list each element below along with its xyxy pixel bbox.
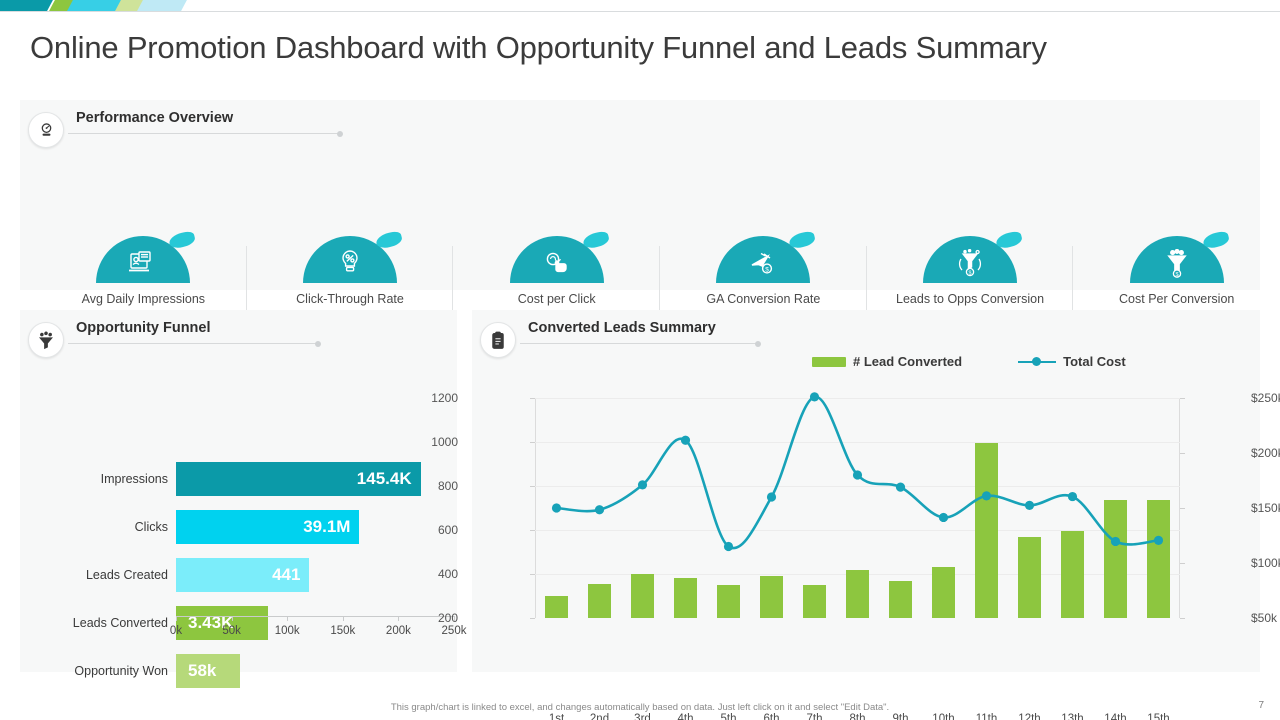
line-marker[interactable] xyxy=(939,513,948,522)
kpi-label: Cost per Click xyxy=(518,292,596,306)
legend-item-lead-converted[interactable]: # Lead Converted xyxy=(812,354,962,369)
x-axis-category-label: 10thJan xyxy=(932,712,954,720)
funnel-value: 145.4K xyxy=(357,469,412,489)
funnel-axis-tick-label: 100k xyxy=(275,625,300,637)
funnel-section-header: Opportunity Funnel xyxy=(28,320,447,360)
left-axis-tick-label: 800 xyxy=(412,479,458,493)
line-marker[interactable] xyxy=(638,480,647,489)
page-number: 7 xyxy=(1258,700,1264,711)
performance-overview-panel: Performance Overview xyxy=(20,100,1260,290)
svg-text:$: $ xyxy=(969,270,972,276)
clipboard-icon xyxy=(480,322,516,358)
line-marker[interactable] xyxy=(982,491,991,500)
chart-legend: # Lead Converted Total Cost xyxy=(812,354,1126,369)
performance-connector-line xyxy=(68,133,340,134)
funnel-axis-tick xyxy=(232,616,233,621)
performance-section-header: Performance Overview xyxy=(28,110,1250,150)
kpi-label: Cost Per Conversion xyxy=(1119,292,1234,306)
funnel-value: 58k xyxy=(188,661,216,681)
funnel-row-opportunity-won[interactable]: Opportunity Won 58k xyxy=(176,654,240,688)
right-axis-tick-label: $200k xyxy=(1251,446,1280,460)
svg-text:$: $ xyxy=(766,266,770,273)
funnel-bar: 145.4K xyxy=(176,462,421,496)
line-marker[interactable] xyxy=(595,505,604,514)
leads-connector-line xyxy=(520,343,758,344)
left-axis-tick-label: 1200 xyxy=(412,391,458,405)
funnel-label: Impressions xyxy=(101,472,168,486)
funnel-label: Opportunity Won xyxy=(74,664,168,678)
right-axis-tick xyxy=(1180,398,1185,399)
funnel-axis-tick xyxy=(343,616,344,621)
right-axis-tick xyxy=(1180,563,1185,564)
left-axis-tick-label: 1000 xyxy=(412,435,458,449)
funnel-connector-dot xyxy=(315,341,321,347)
conversion-arrow-icon: $ xyxy=(716,251,810,279)
line-marker[interactable] xyxy=(1111,537,1120,546)
right-axis-tick-label: $150k xyxy=(1251,501,1280,515)
funnel-axis-tick-label: 150k xyxy=(330,625,355,637)
dome-notch-5 xyxy=(995,230,1024,250)
left-axis-tick-label: 600 xyxy=(412,523,458,537)
top-strip-teal xyxy=(0,0,53,11)
funnel-dots-icon xyxy=(28,322,64,358)
dome-notch-2 xyxy=(375,230,404,250)
x-axis-category-label: 9thJan xyxy=(891,712,910,720)
performance-section-title: Performance Overview xyxy=(76,110,233,126)
funnel-axis-tick-label: 50k xyxy=(222,625,241,637)
funnel-bar: 58k xyxy=(176,654,240,688)
funnel-cycle-icon: $ xyxy=(923,249,1017,279)
right-axis-tick-label: $50k xyxy=(1251,611,1280,625)
line-marker[interactable] xyxy=(724,542,733,551)
x-axis-category-label: 1stJan xyxy=(547,712,566,720)
funnel-axis-tick xyxy=(176,616,177,621)
page-title: Online Promotion Dashboard with Opportun… xyxy=(30,30,1047,66)
right-axis-tick xyxy=(1180,508,1185,509)
dome-notch-4 xyxy=(788,230,817,250)
funnel-axis-tick-label: 250k xyxy=(442,625,467,637)
legend-item-total-cost[interactable]: Total Cost xyxy=(1018,354,1126,369)
funnel-row-leads-created[interactable]: Leads Created 441 xyxy=(176,558,309,592)
right-axis-tick-label: $100k xyxy=(1251,556,1280,570)
funnel-row-clicks[interactable]: Clicks 39.1M xyxy=(176,510,359,544)
performance-connector-dot xyxy=(337,131,343,137)
x-axis-category-label: 12thJan xyxy=(1018,712,1040,720)
x-axis-category-label: 11thJan xyxy=(976,712,998,720)
decorative-top-bar xyxy=(0,0,1280,14)
x-axis-category-label: 8thJan xyxy=(848,712,867,720)
gauge-icon xyxy=(28,112,64,148)
kpi-dome-3 xyxy=(510,236,604,283)
x-axis-category-label: 5thJan xyxy=(719,712,738,720)
funnel-row-impressions[interactable]: Impressions 145.4K xyxy=(176,462,421,496)
click-hand-icon xyxy=(510,251,604,279)
funnel-dollar-icon: $ xyxy=(1130,249,1224,279)
x-axis-category-label: 14thJan xyxy=(1104,712,1126,720)
top-strip-pale-blue xyxy=(137,0,187,11)
line-marker[interactable] xyxy=(1025,501,1034,510)
kpi-dome-1 xyxy=(96,236,190,283)
line-marker[interactable] xyxy=(552,503,561,512)
funnel-bar: 39.1M xyxy=(176,510,359,544)
legend-label: Total Cost xyxy=(1063,354,1126,369)
converted-leads-chart: 20040060080010001200$50k$100k$150k$200k$… xyxy=(535,398,1180,618)
funnel-axis-tick-label: 200k xyxy=(386,625,411,637)
left-axis-tick xyxy=(530,618,535,619)
kpi-label: Leads to Opps Conversion xyxy=(896,292,1044,306)
kpi-label: GA Conversion Rate xyxy=(706,292,820,306)
funnel-section-title: Opportunity Funnel xyxy=(76,320,211,336)
line-marker[interactable] xyxy=(810,392,819,401)
left-axis-tick-label: 400 xyxy=(412,567,458,581)
legend-bar-swatch xyxy=(812,357,846,367)
funnel-label: Leads Converted xyxy=(73,616,168,630)
line-marker[interactable] xyxy=(1068,492,1077,501)
kpi-dome-2 xyxy=(303,236,397,283)
kpi-dome-5: $ xyxy=(923,236,1017,283)
x-axis-category-label: 13thJan xyxy=(1061,712,1083,720)
dome-notch-6 xyxy=(1201,230,1230,250)
right-axis-tick-label: $250k xyxy=(1251,391,1280,405)
excel-link-note: This graph/chart is linked to excel, and… xyxy=(0,702,1280,713)
line-marker[interactable] xyxy=(853,470,862,479)
percent-bulb-icon xyxy=(303,249,397,279)
funnel-bar: 441 xyxy=(176,558,309,592)
converted-leads-panel: Converted Leads Summary # Lead Converted… xyxy=(472,310,1260,672)
leads-connector-dot xyxy=(755,341,761,347)
funnel-axis-tick xyxy=(287,616,288,621)
total-cost-line-series xyxy=(535,398,1180,618)
leads-section-title: Converted Leads Summary xyxy=(528,320,716,336)
funnel-axis-tick xyxy=(398,616,399,621)
funnel-label: Leads Created xyxy=(86,568,168,582)
x-axis-category-label: 4thJan xyxy=(676,712,695,720)
kpi-dome-6: $ xyxy=(1130,236,1224,283)
legend-line-swatch xyxy=(1018,356,1056,368)
right-axis-tick xyxy=(1180,618,1185,619)
line-marker[interactable] xyxy=(1154,536,1163,545)
x-axis-category-label: 3rdJan xyxy=(633,712,652,720)
line-marker[interactable] xyxy=(681,436,690,445)
x-axis-category-label: 6thJan xyxy=(762,712,781,720)
left-axis-tick-label: 200 xyxy=(412,611,458,625)
dome-notch-1 xyxy=(168,230,197,250)
opportunity-funnel-panel: Opportunity Funnel Impressions 145.4K Cl… xyxy=(20,310,457,672)
dome-notch-3 xyxy=(581,230,610,250)
impressions-monitor-icon xyxy=(96,251,190,279)
right-axis-tick xyxy=(1180,453,1185,454)
slide-root: Online Promotion Dashboard with Opportun… xyxy=(0,0,1280,720)
x-axis-category-label: 7thJan xyxy=(805,712,824,720)
funnel-value: 441 xyxy=(272,565,300,585)
kpi-label: Avg Daily Impressions xyxy=(82,292,205,306)
funnel-chart: Impressions 145.4K Clicks 39.1M Leads Cr… xyxy=(44,380,454,630)
top-rule xyxy=(0,11,1280,12)
funnel-connector-line xyxy=(68,343,318,344)
line-marker[interactable] xyxy=(896,483,905,492)
funnel-value: 39.1M xyxy=(303,517,350,537)
funnel-axis-tick-label: 0k xyxy=(170,625,182,637)
legend-label: # Lead Converted xyxy=(853,354,962,369)
line-marker[interactable] xyxy=(767,492,776,501)
x-axis-category-label: 15thJan xyxy=(1147,712,1169,720)
x-axis-category-label: 2ndJan xyxy=(590,712,609,720)
kpi-dome-4: $ xyxy=(716,236,810,283)
funnel-label: Clicks xyxy=(135,520,168,534)
kpi-label: Click-Through Rate xyxy=(296,292,404,306)
